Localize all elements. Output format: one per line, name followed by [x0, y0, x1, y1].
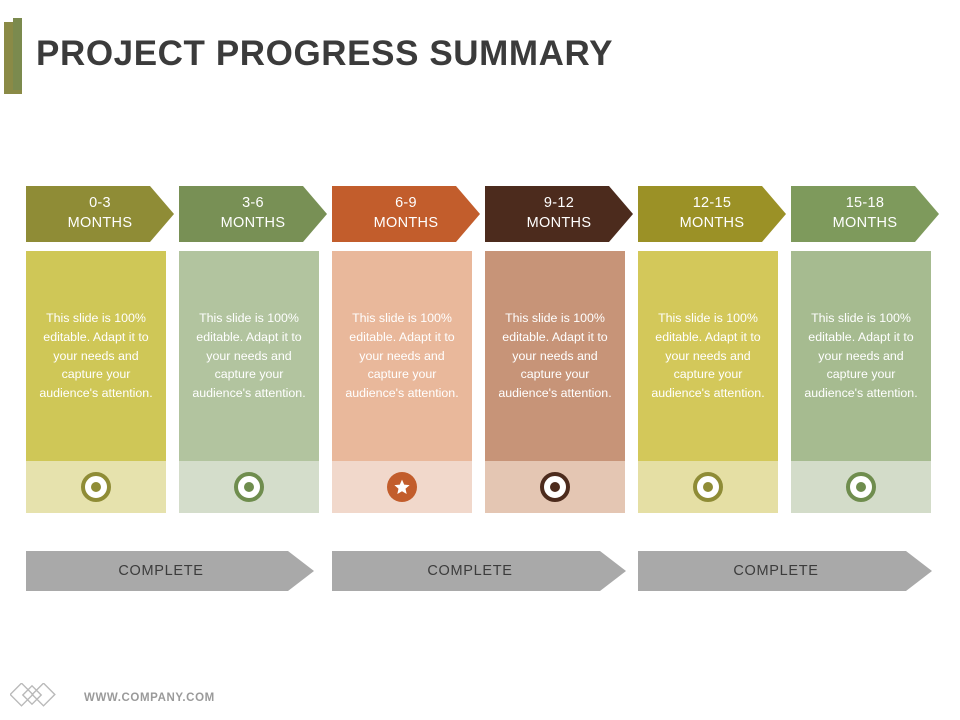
- diamonds-logo-icon: [10, 683, 72, 713]
- column-body: This slide is 100% editable. Adapt it to…: [179, 251, 319, 461]
- footer-url: WWW.COMPANY.COM: [84, 692, 215, 704]
- target-icon: [234, 472, 264, 502]
- complete-banner-row: COMPLETECOMPLETECOMPLETE: [26, 551, 936, 591]
- column-body: This slide is 100% editable. Adapt it to…: [332, 251, 472, 461]
- column-header-sublabel: MONTHS: [221, 214, 286, 234]
- column-body: This slide is 100% editable. Adapt it to…: [26, 251, 166, 461]
- column-header-label: 6-9: [374, 194, 439, 214]
- target-icon-center: [550, 482, 560, 492]
- column-header-4[interactable]: 9-12MONTHS: [485, 186, 633, 242]
- column-header-label: 12-15: [680, 194, 745, 214]
- column-body-text: This slide is 100% editable. Adapt it to…: [32, 309, 160, 403]
- column-icon-strip: [332, 461, 472, 513]
- column-icon-strip: [485, 461, 625, 513]
- column-icon-strip: [791, 461, 931, 513]
- complete-banner-label: COMPLETE: [118, 563, 203, 579]
- target-icon: [81, 472, 111, 502]
- complete-banner-3[interactable]: COMPLETE: [638, 551, 932, 591]
- column-header-label: 15-18: [833, 194, 898, 214]
- column-body: This slide is 100% editable. Adapt it to…: [638, 251, 778, 461]
- target-icon-center: [91, 482, 101, 492]
- column-body-text: This slide is 100% editable. Adapt it to…: [797, 309, 925, 403]
- target-icon-center: [244, 482, 254, 492]
- column-header-sublabel: MONTHS: [527, 214, 592, 234]
- column-header-3[interactable]: 6-9MONTHS: [332, 186, 480, 242]
- column-body: This slide is 100% editable. Adapt it to…: [791, 251, 931, 461]
- target-icon: [693, 472, 723, 502]
- timeline-column: 3-6MONTHSThis slide is 100% editable. Ad…: [179, 186, 319, 526]
- column-header-label: 9-12: [527, 194, 592, 214]
- column-header-1[interactable]: 0-3MONTHS: [26, 186, 174, 242]
- target-icon-center: [856, 482, 866, 492]
- column-body: This slide is 100% editable. Adapt it to…: [485, 251, 625, 461]
- column-header-sublabel: MONTHS: [680, 214, 745, 234]
- target-icon: [540, 472, 570, 502]
- column-header-sublabel: MONTHS: [374, 214, 439, 234]
- column-body-text: This slide is 100% editable. Adapt it to…: [338, 309, 466, 403]
- column-header-sublabel: MONTHS: [833, 214, 898, 234]
- column-icon-strip: [179, 461, 319, 513]
- column-header-2[interactable]: 3-6MONTHS: [179, 186, 327, 242]
- timeline-column: 6-9MONTHSThis slide is 100% editable. Ad…: [332, 186, 472, 526]
- complete-banner-label: COMPLETE: [427, 563, 512, 579]
- column-body-text: This slide is 100% editable. Adapt it to…: [185, 309, 313, 403]
- column-body-text: This slide is 100% editable. Adapt it to…: [491, 309, 619, 403]
- footer: WWW.COMPANY.COM: [10, 683, 215, 713]
- column-header-6[interactable]: 15-18MONTHS: [791, 186, 939, 242]
- column-icon-strip: [26, 461, 166, 513]
- timeline-column: 9-12MONTHSThis slide is 100% editable. A…: [485, 186, 625, 526]
- column-body-text: This slide is 100% editable. Adapt it to…: [644, 309, 772, 403]
- timeline-column: 0-3MONTHSThis slide is 100% editable. Ad…: [26, 186, 166, 526]
- column-header-sublabel: MONTHS: [68, 214, 133, 234]
- target-icon: [846, 472, 876, 502]
- target-icon-center: [703, 482, 713, 492]
- complete-banner-label: COMPLETE: [733, 563, 818, 579]
- page-title: PROJECT PROGRESS SUMMARY: [36, 34, 613, 74]
- star-icon: [387, 472, 417, 502]
- column-header-label: 0-3: [68, 194, 133, 214]
- column-header-label: 3-6: [221, 194, 286, 214]
- column-header-5[interactable]: 12-15MONTHS: [638, 186, 786, 242]
- complete-banner-2[interactable]: COMPLETE: [332, 551, 626, 591]
- column-icon-strip: [638, 461, 778, 513]
- timeline-column: 12-15MONTHSThis slide is 100% editable. …: [638, 186, 778, 526]
- timeline-column: 15-18MONTHSThis slide is 100% editable. …: [791, 186, 931, 526]
- complete-banner-1[interactable]: COMPLETE: [26, 551, 314, 591]
- title-accent-bar: [4, 22, 22, 94]
- timeline-columns: 0-3MONTHSThis slide is 100% editable. Ad…: [26, 186, 934, 526]
